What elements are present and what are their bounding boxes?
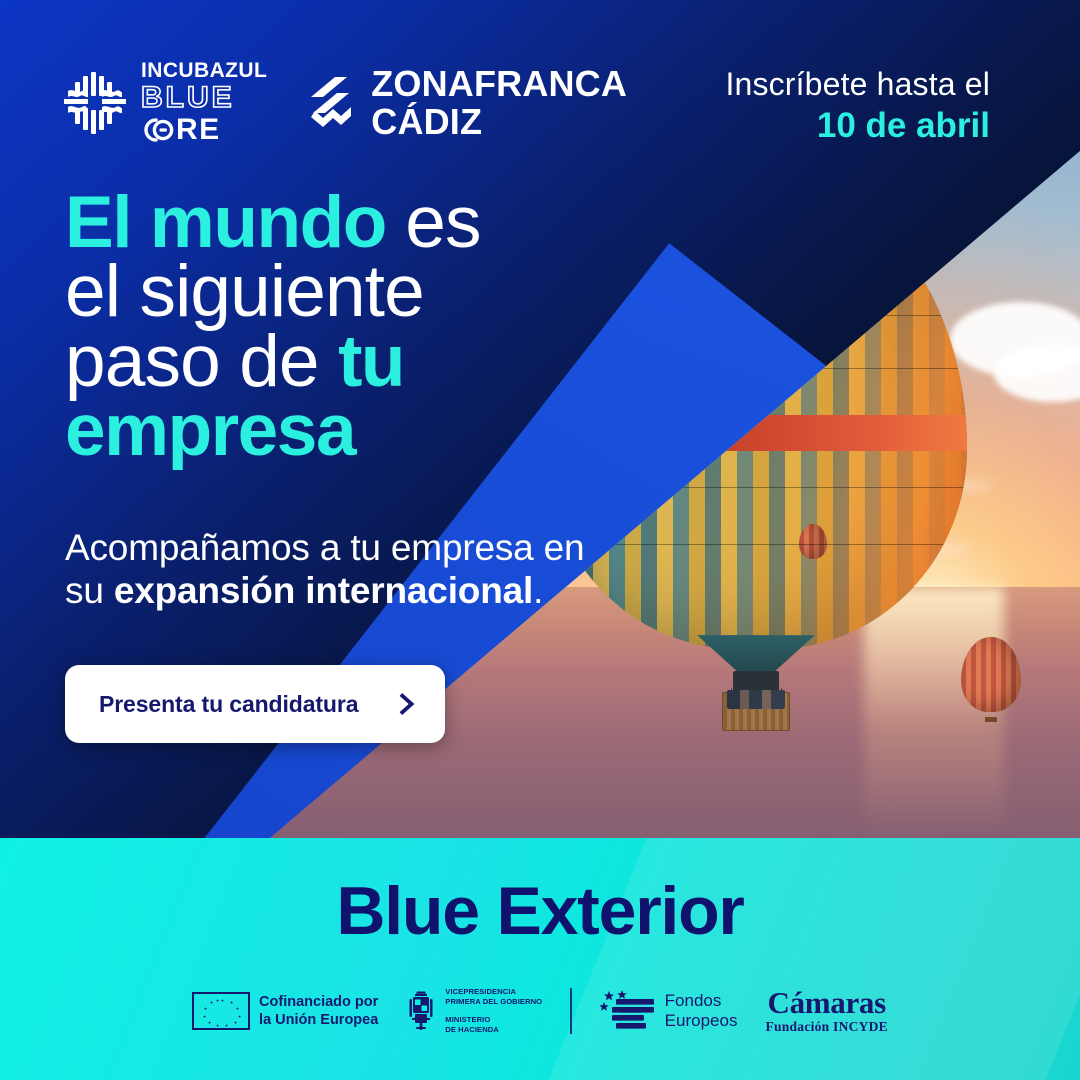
promo-poster: INCUBAZUL BLUE RE (0, 0, 1080, 1080)
eu-label-line2: la Unión Europea (259, 1011, 378, 1029)
fondos-europeos-icon (600, 989, 656, 1033)
fondos-line1: Fondos (665, 991, 738, 1011)
gobierno-line3: MINISTERIO (445, 1015, 542, 1025)
eu-flag-icon (192, 992, 250, 1030)
camaras-subtitle: Fundación INCYDE (765, 1019, 887, 1035)
zonafranca-logo[interactable]: ZONAFRANCA CÁDIZ (307, 66, 627, 140)
fondos-europeos-logo: Fondos Europeos (600, 989, 738, 1033)
program-title: Blue Exterior (0, 872, 1080, 950)
deadline-date: 10 de abril (725, 106, 990, 146)
incubazul-weave-mark (62, 70, 128, 136)
camaras-title: Cámaras (768, 987, 886, 1018)
incubazul-logo[interactable]: INCUBAZUL BLUE RE (62, 60, 267, 145)
zonafranca-arrow-mark (307, 75, 355, 131)
footer-logo-row: Cofinanciado por la Unión Europea (0, 976, 1080, 1046)
camaras-incyde-logo: Cámaras Fundación INCYDE (765, 987, 887, 1035)
deadline-prefix: Inscríbete hasta el (725, 66, 990, 104)
secondary-balloon (799, 524, 827, 559)
subheadline-part2: . (533, 570, 543, 611)
eu-label-line1: Cofinanciado por (259, 993, 378, 1011)
incubazul-line2: BLUE (141, 83, 267, 113)
footer-separator (570, 988, 572, 1034)
fondos-line2: Europeos (665, 1011, 738, 1031)
subheadline: Acompañamos a tu empresa en su expansión… (65, 527, 585, 613)
header: INCUBAZUL BLUE RE (0, 0, 1080, 170)
subheadline-bold: expansión internacional (114, 570, 533, 611)
incubazul-line1: INCUBAZUL (141, 60, 267, 81)
gobierno-line1: VICEPRESIDENCIA (445, 987, 542, 997)
zonafranca-line2: CÁDIZ (371, 104, 627, 140)
apply-button[interactable]: Presenta tu candidatura (65, 665, 445, 743)
core-co-ligature-icon (141, 116, 175, 144)
chevron-right-icon (395, 693, 417, 715)
gobierno-logo: VICEPRESIDENCIA PRIMERA DEL GOBIERNO MIN… (406, 987, 542, 1036)
copy-block: El mundo es el siguiente paso de tu empr… (65, 188, 585, 743)
secondary-balloon (961, 637, 1020, 712)
logo-row: INCUBAZUL BLUE RE (62, 60, 627, 145)
incubazul-line3: RE (141, 115, 267, 145)
eu-cofinancing-logo: Cofinanciado por la Unión Europea (192, 992, 378, 1030)
spain-coat-of-arms-icon (406, 990, 436, 1032)
headline-line2: el siguiente (65, 257, 585, 326)
headline: El mundo es el siguiente paso de tu empr… (65, 188, 585, 465)
headline-line4-bold: empresa (65, 396, 585, 465)
bottom-banner: Blue Exterior Cof (0, 838, 1080, 1080)
zonafranca-line1: ZONAFRANCA (371, 66, 627, 102)
gobierno-line2: PRIMERA DEL GOBIERNO (445, 997, 542, 1007)
deadline-block: Inscríbete hasta el 10 de abril (725, 66, 990, 146)
apply-button-label: Presenta tu candidatura (99, 691, 358, 718)
gobierno-line4: DE HACIENDA (445, 1025, 542, 1035)
